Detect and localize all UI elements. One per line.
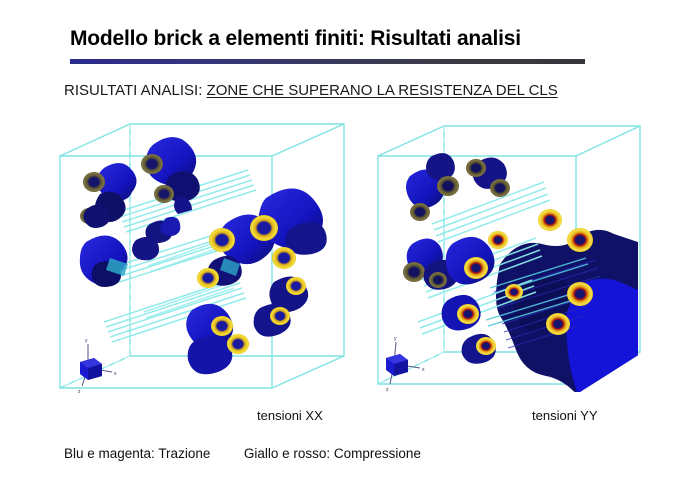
axis-label-y: y bbox=[85, 338, 88, 344]
legend-tension-text: Blu e magenta: Trazione bbox=[64, 446, 210, 461]
stress-blob-cluster bbox=[80, 163, 137, 228]
figure-tensioni-xx: y x z tensioni XX bbox=[52, 116, 352, 406]
axis-label-x: x bbox=[114, 371, 117, 377]
page-title: Modello brick a elementi finiti: Risulta… bbox=[70, 27, 630, 51]
axis-triad-xx: y x z bbox=[78, 338, 117, 395]
stress-blob-cluster bbox=[462, 334, 496, 364]
axis-label-z: z bbox=[78, 389, 81, 395]
stress-blob-cluster bbox=[186, 304, 249, 374]
subtitle: RISULTATI ANALISI: ZONE CHE SUPERANO LA … bbox=[64, 82, 558, 99]
axis-label-x: x bbox=[422, 367, 425, 373]
figure-caption-yy: tensioni YY bbox=[532, 408, 598, 423]
figure-tensioni-yy: y x z tensioni YY bbox=[372, 116, 652, 406]
legend: Blu e magenta: Trazione Giallo e rosso: … bbox=[64, 446, 421, 461]
axis-label-y: y bbox=[394, 336, 397, 342]
subtitle-lead: RISULTATI ANALISI: bbox=[64, 82, 202, 99]
figure-caption-xx: tensioni XX bbox=[257, 408, 323, 423]
stress-blob-cluster bbox=[254, 276, 309, 336]
axis-label-z: z bbox=[386, 387, 389, 393]
fem-render-xx: y x z bbox=[52, 116, 352, 406]
stress-blob-cluster bbox=[406, 153, 459, 221]
fem-render-yy: y x z bbox=[372, 116, 652, 406]
legend-compression-text: Giallo e rosso: Compressione bbox=[244, 446, 421, 461]
stress-blob-cluster bbox=[466, 157, 510, 197]
subtitle-emphasis: ZONE CHE SUPERANO LA RESISTENZA DEL CLS bbox=[207, 82, 558, 99]
title-divider-rule bbox=[70, 59, 585, 64]
stress-blob-cluster bbox=[80, 235, 128, 287]
